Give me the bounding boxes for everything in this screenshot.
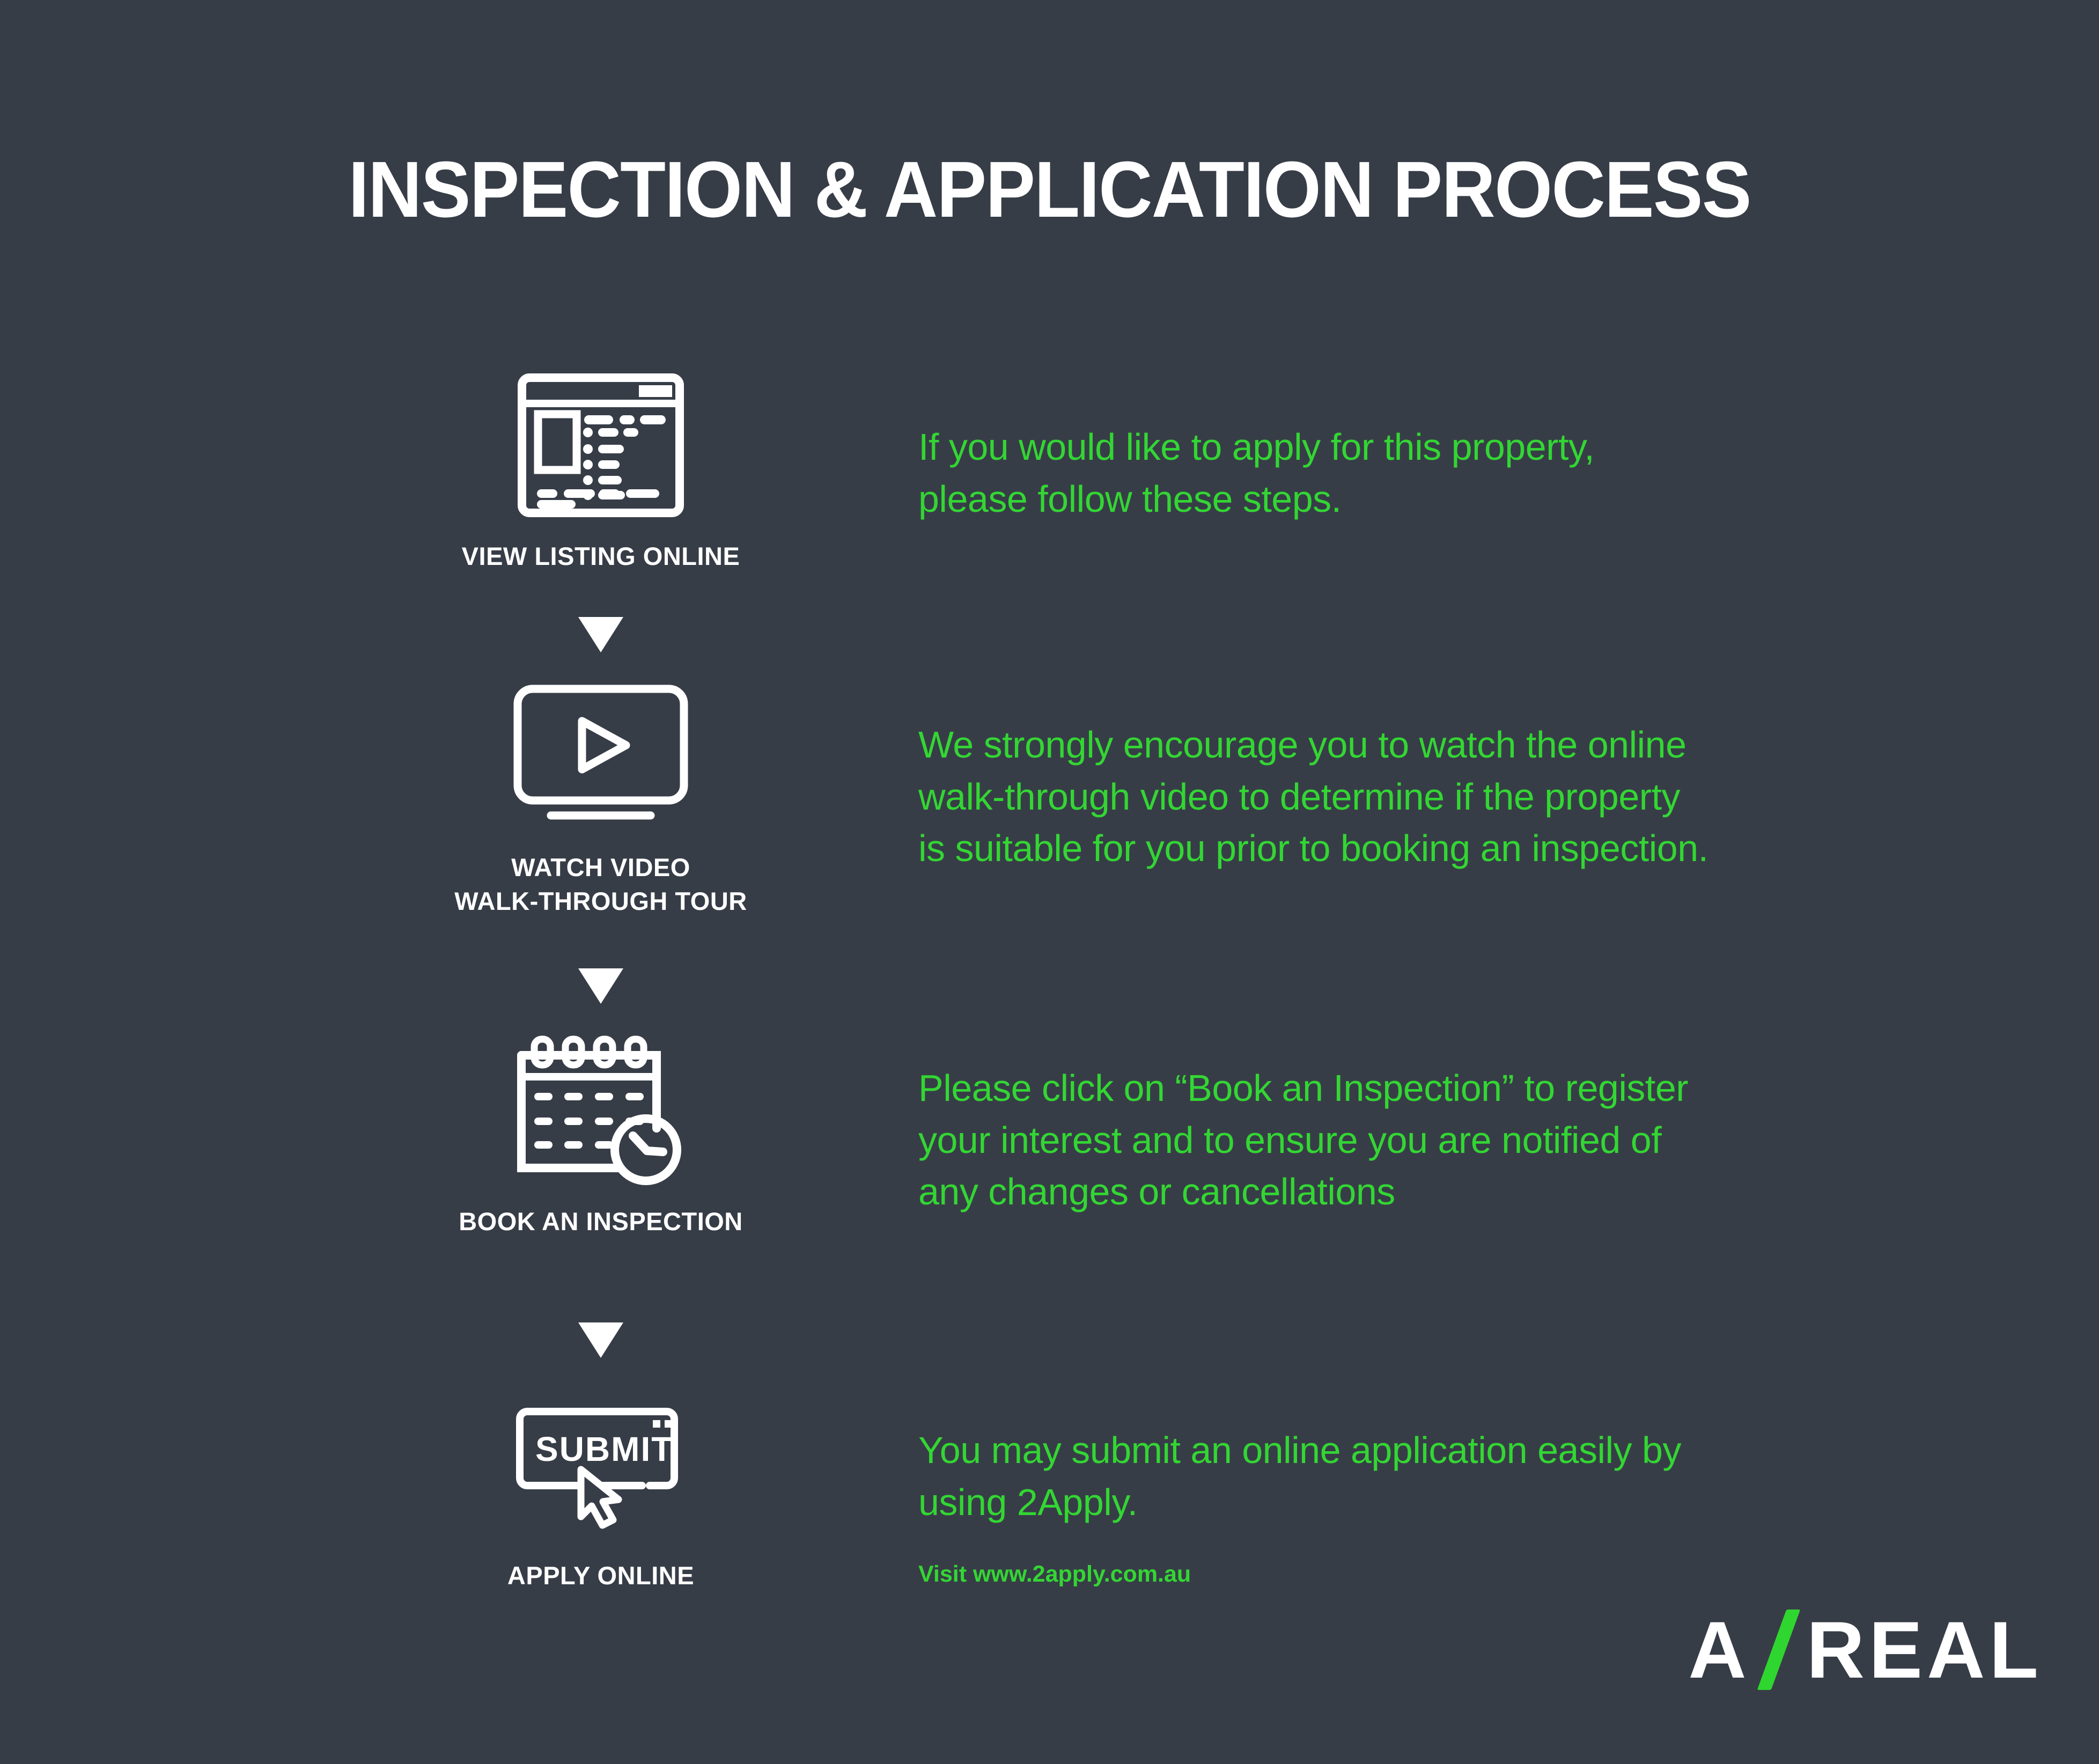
logo-word-real: REAL	[1807, 1609, 2043, 1690]
brand-logo[interactable]: A REAL	[1688, 1607, 2043, 1693]
step-book-inspection: BOOK AN INSPECTION	[300, 1019, 901, 1239]
video-player-icon	[300, 665, 901, 848]
visit-2apply-link[interactable]: Visit www.2apply.com.au	[918, 1561, 1191, 1587]
paragraph-apply-intro: If you would like to apply for this prop…	[918, 421, 1594, 525]
calendar-clock-icon	[300, 1019, 901, 1202]
paragraph-apply-online: You may submit an online application eas…	[918, 1424, 1681, 1528]
step-label-view-listing: VIEW LISTING ONLINE	[300, 540, 901, 574]
step-watch-video: WATCH VIDEO WALK-THROUGH TOUR	[300, 665, 901, 918]
submit-icon-label: SUBMIT	[535, 1430, 673, 1468]
logo-letter-a: A	[1688, 1609, 1750, 1690]
step-label-book-inspection: BOOK AN INSPECTION	[300, 1205, 901, 1239]
step-view-listing: VIEW LISTING ONLINE	[300, 354, 901, 574]
paragraph-book-inspection: Please click on “Book an Inspection” to …	[918, 1062, 1688, 1218]
step-label-apply-online: APPLY ONLINE	[300, 1559, 901, 1593]
page-title: INSPECTION & APPLICATION PROCESS	[63, 150, 2036, 230]
step-apply-online: SUBMIT APPLY ONLINE	[300, 1373, 901, 1593]
arrow-down-2	[300, 968, 901, 1004]
listing-window-icon	[300, 354, 901, 536]
arrow-down-3	[300, 1322, 901, 1358]
paragraph-watch-video: We strongly encourage you to watch the o…	[918, 719, 1708, 874]
arrow-down-1	[300, 617, 901, 652]
step-label-watch-video: WATCH VIDEO WALK-THROUGH TOUR	[300, 851, 901, 918]
submit-button-cursor-icon: SUBMIT	[300, 1373, 901, 1556]
logo-slash-icon	[1753, 1609, 1805, 1690]
